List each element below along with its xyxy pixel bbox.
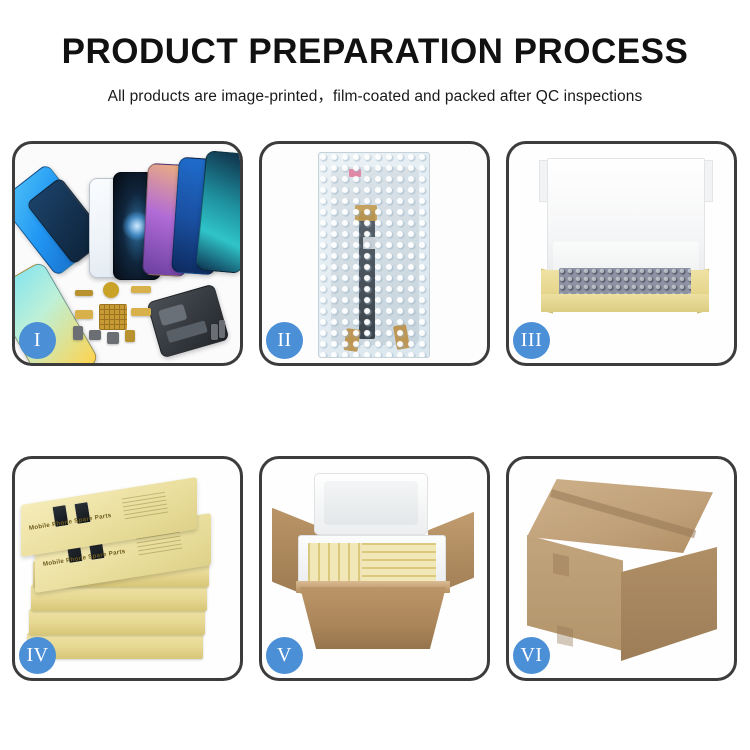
kraft-tray-front bbox=[541, 294, 709, 312]
spare-part-flex-cable-c bbox=[131, 308, 151, 316]
spare-part-screwdriver bbox=[211, 324, 218, 340]
carton-face-right bbox=[621, 547, 717, 661]
spare-part-bracket bbox=[89, 330, 101, 340]
page-subtitle: All products are image-printed，film-coat… bbox=[0, 84, 750, 106]
process-step-4: Mobile Phone Spare Parts Mobile Phone Sp… bbox=[12, 456, 243, 681]
spare-part-speaker bbox=[103, 282, 119, 298]
process-step-grid: I II bbox=[12, 141, 738, 681]
disassembled-back-cover bbox=[146, 283, 229, 358]
product-preparation-page: PRODUCT PREPARATION PROCESS All products… bbox=[0, 0, 750, 750]
carton-tab-lower bbox=[557, 625, 573, 646]
spare-part-flex-cable-a bbox=[131, 286, 151, 293]
spare-part-tool bbox=[219, 320, 225, 338]
step-badge-6: VI bbox=[513, 637, 550, 674]
spare-part-sim-tray bbox=[125, 330, 135, 342]
bubble-wrap-package bbox=[318, 152, 430, 358]
spare-part-camera bbox=[107, 332, 119, 344]
process-step-6: VI bbox=[506, 456, 737, 681]
stacked-box-bottom-2 bbox=[29, 609, 205, 635]
spare-part-flex-cable-b bbox=[75, 310, 93, 319]
step-badge-5: V bbox=[266, 637, 303, 674]
sealed-carton bbox=[521, 477, 723, 663]
process-step-5: V bbox=[259, 456, 490, 681]
boxes-column-vertical bbox=[308, 543, 360, 585]
process-step-3: III bbox=[506, 141, 737, 366]
bubble-texture bbox=[319, 153, 429, 357]
process-step-2: II bbox=[259, 141, 490, 366]
process-step-1: I bbox=[12, 141, 243, 366]
step-badge-1: I bbox=[19, 322, 56, 359]
spare-part-screw-tray bbox=[99, 304, 127, 330]
page-title: PRODUCT PREPARATION PROCESS bbox=[0, 34, 750, 71]
foam-lid-inner bbox=[324, 481, 418, 525]
carton-tab-upper bbox=[553, 553, 569, 576]
step-badge-3: III bbox=[513, 322, 550, 359]
spare-part-chip bbox=[75, 290, 93, 296]
carton-body bbox=[300, 587, 446, 649]
packed-retail-boxes bbox=[308, 543, 436, 585]
page-header: PRODUCT PREPARATION PROCESS All products… bbox=[0, 0, 750, 106]
boxes-column-horizontal bbox=[362, 543, 436, 585]
carton-face-left bbox=[527, 535, 623, 651]
spare-part-button bbox=[73, 326, 83, 340]
step-badge-2: II bbox=[266, 322, 303, 359]
step-badge-4: IV bbox=[19, 637, 56, 674]
